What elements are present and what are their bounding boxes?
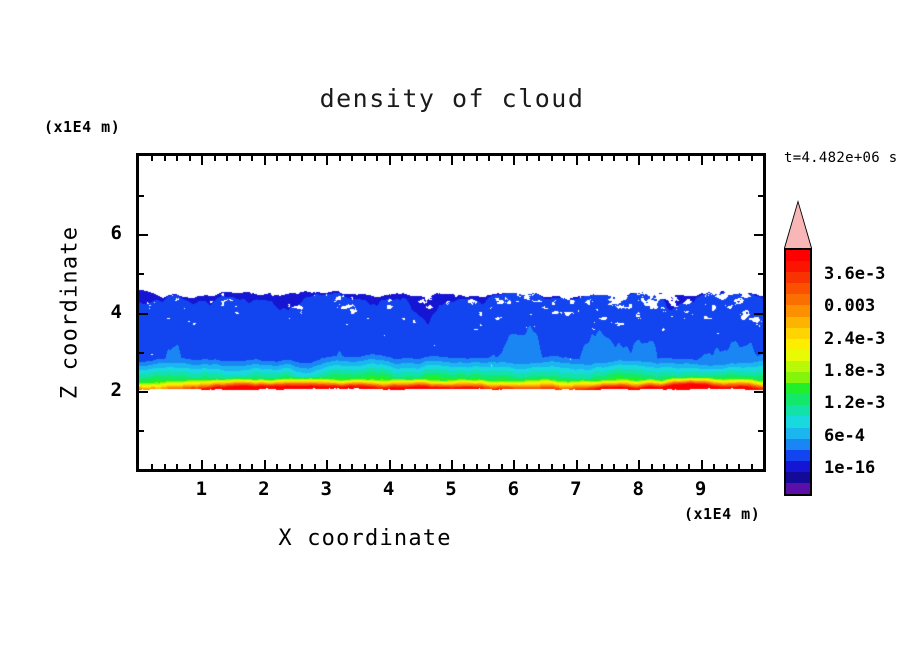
- x-minor-tick-top: [476, 156, 478, 161]
- y-axis-title: Z coordinate: [58, 203, 83, 423]
- x-minor-tick: [588, 464, 590, 469]
- colorbar-band: [786, 361, 810, 372]
- x-minor-tick-top: [301, 156, 303, 161]
- x-tick-label: 2: [249, 478, 279, 500]
- x-minor-tick-top: [751, 156, 753, 161]
- colorbar-band: [786, 450, 810, 461]
- colorbar-band: [786, 339, 810, 350]
- colorbar-tick-label: 3.6e-3: [824, 264, 885, 284]
- x-minor-tick: [414, 464, 416, 469]
- x-minor-tick-top: [463, 156, 465, 161]
- colorbar-band: [786, 405, 810, 416]
- x-minor-tick-top: [613, 156, 615, 161]
- colorbar-tick-label: 1.2e-3: [824, 393, 885, 413]
- x-minor-tick-top: [189, 156, 191, 161]
- x-minor-tick-top: [426, 156, 428, 161]
- x-tick-label: 4: [374, 478, 404, 500]
- x-minor-tick-top: [663, 156, 665, 161]
- x-minor-tick: [251, 464, 253, 469]
- x-minor-tick-top: [713, 156, 715, 161]
- x-minor-tick: [339, 464, 341, 469]
- x-minor-tick: [463, 464, 465, 469]
- y-minor-tick-right: [758, 430, 763, 432]
- y-axis-unit-label: (x1E4 m): [44, 118, 120, 136]
- colorbar-tick-label: 0.003: [824, 296, 875, 316]
- y-minor-tick-right: [758, 273, 763, 275]
- x-minor-tick: [651, 464, 653, 469]
- x-minor-tick-top: [526, 156, 528, 161]
- x-minor-tick: [613, 464, 615, 469]
- plot-area: [136, 153, 766, 472]
- y-major-tick: [139, 391, 148, 393]
- y-minor-tick: [139, 430, 144, 432]
- x-major-tick-top: [201, 156, 203, 165]
- x-minor-tick-top: [488, 156, 490, 161]
- colorbar-band: [786, 305, 810, 316]
- x-minor-tick-top: [401, 156, 403, 161]
- x-minor-tick-top: [314, 156, 316, 161]
- y-minor-tick-right: [758, 352, 763, 354]
- y-major-tick-right: [754, 391, 763, 393]
- x-minor-tick: [426, 464, 428, 469]
- x-minor-tick: [364, 464, 366, 469]
- x-minor-tick-top: [164, 156, 166, 161]
- x-minor-tick-top: [601, 156, 603, 161]
- x-major-tick: [264, 460, 266, 469]
- x-minor-tick: [713, 464, 715, 469]
- x-minor-tick: [476, 464, 478, 469]
- x-tick-label: 3: [311, 478, 341, 500]
- x-minor-tick-top: [726, 156, 728, 161]
- x-tick-label: 6: [498, 478, 528, 500]
- x-minor-tick: [563, 464, 565, 469]
- x-axis-unit-label: (x1E4 m): [684, 505, 760, 523]
- colorbar-band: [786, 272, 810, 283]
- x-major-tick: [326, 460, 328, 469]
- y-minor-tick: [139, 273, 144, 275]
- x-major-tick: [389, 460, 391, 469]
- colorbar-band: [786, 317, 810, 328]
- x-minor-tick: [688, 464, 690, 469]
- x-minor-tick: [501, 464, 503, 469]
- y-major-tick-right: [754, 234, 763, 236]
- x-minor-tick: [351, 464, 353, 469]
- x-minor-tick: [226, 464, 228, 469]
- y-major-tick: [139, 313, 148, 315]
- x-minor-tick-top: [176, 156, 178, 161]
- colorbar-band: [786, 372, 810, 383]
- x-minor-tick: [751, 464, 753, 469]
- colorbar-bands: [784, 248, 812, 496]
- time-annotation: t=4.482e+06 s: [784, 150, 897, 166]
- x-minor-tick: [601, 464, 603, 469]
- colorbar-band: [786, 283, 810, 294]
- x-minor-tick-top: [676, 156, 678, 161]
- x-minor-tick-top: [439, 156, 441, 161]
- x-major-tick-top: [264, 156, 266, 165]
- x-minor-tick-top: [626, 156, 628, 161]
- colorbar-band: [786, 416, 810, 427]
- x-minor-tick-top: [289, 156, 291, 161]
- x-minor-tick-top: [351, 156, 353, 161]
- colorbar-band: [786, 439, 810, 450]
- x-major-tick-top: [576, 156, 578, 165]
- colorbar-over-arrow: [785, 203, 811, 248]
- colorbar-band: [786, 461, 810, 472]
- x-minor-tick: [164, 464, 166, 469]
- x-minor-tick: [176, 464, 178, 469]
- x-minor-tick-top: [538, 156, 540, 161]
- x-minor-tick-top: [364, 156, 366, 161]
- x-minor-tick: [314, 464, 316, 469]
- colorbar-band: [786, 394, 810, 405]
- x-minor-tick-top: [563, 156, 565, 161]
- x-minor-tick-top: [251, 156, 253, 161]
- x-minor-tick-top: [214, 156, 216, 161]
- x-minor-tick-top: [501, 156, 503, 161]
- x-minor-tick-top: [276, 156, 278, 161]
- x-minor-tick-top: [239, 156, 241, 161]
- y-tick-label: 4: [92, 301, 122, 323]
- colorbar-band: [786, 294, 810, 305]
- y-minor-tick: [139, 352, 144, 354]
- colorbar-tick-label: 1.8e-3: [824, 361, 885, 381]
- x-major-tick-top: [389, 156, 391, 165]
- x-major-tick-top: [451, 156, 453, 165]
- colorbar-tick-label: 2.4e-3: [824, 329, 885, 349]
- colorbar-band: [786, 261, 810, 272]
- colorbar-band: [786, 250, 810, 261]
- x-tick-label: 1: [186, 478, 216, 500]
- x-minor-tick: [401, 464, 403, 469]
- x-major-tick: [701, 460, 703, 469]
- x-minor-tick: [726, 464, 728, 469]
- x-tick-label: 7: [561, 478, 591, 500]
- x-minor-tick-top: [551, 156, 553, 161]
- x-major-tick: [576, 460, 578, 469]
- y-minor-tick: [139, 195, 144, 197]
- x-minor-tick: [239, 464, 241, 469]
- x-tick-label: 9: [686, 478, 716, 500]
- colorbar-band: [786, 350, 810, 361]
- y-tick-label: 6: [92, 222, 122, 244]
- x-minor-tick-top: [588, 156, 590, 161]
- x-minor-tick: [151, 464, 153, 469]
- y-major-tick-right: [754, 313, 763, 315]
- x-minor-tick-top: [651, 156, 653, 161]
- x-minor-tick: [214, 464, 216, 469]
- page-title: density of cloud: [0, 84, 904, 113]
- x-minor-tick-top: [376, 156, 378, 161]
- y-minor-tick-right: [758, 195, 763, 197]
- x-minor-tick: [538, 464, 540, 469]
- x-minor-tick: [439, 464, 441, 469]
- colorbar-tick-label: 1e-16: [824, 458, 875, 478]
- colorbar-band: [786, 472, 810, 483]
- x-minor-tick-top: [226, 156, 228, 161]
- x-minor-tick: [276, 464, 278, 469]
- x-minor-tick: [663, 464, 665, 469]
- x-minor-tick: [551, 464, 553, 469]
- colorbar-band: [786, 328, 810, 339]
- x-minor-tick: [526, 464, 528, 469]
- x-minor-tick-top: [738, 156, 740, 161]
- x-tick-label: 8: [623, 478, 653, 500]
- x-minor-tick: [301, 464, 303, 469]
- x-minor-tick-top: [688, 156, 690, 161]
- colorbar-band: [786, 383, 810, 394]
- x-tick-label: 5: [436, 478, 466, 500]
- x-minor-tick-top: [151, 156, 153, 161]
- x-major-tick-top: [513, 156, 515, 165]
- y-tick-label: 2: [92, 379, 122, 401]
- x-minor-tick-top: [339, 156, 341, 161]
- x-major-tick-top: [701, 156, 703, 165]
- x-minor-tick: [189, 464, 191, 469]
- x-major-tick: [638, 460, 640, 469]
- colorbar-band: [786, 428, 810, 439]
- x-major-tick: [201, 460, 203, 469]
- colorbar-tick-label: 6e-4: [824, 426, 865, 446]
- x-minor-tick: [488, 464, 490, 469]
- x-minor-tick: [676, 464, 678, 469]
- x-major-tick-top: [326, 156, 328, 165]
- x-major-tick: [513, 460, 515, 469]
- x-major-tick: [451, 460, 453, 469]
- x-minor-tick: [738, 464, 740, 469]
- x-minor-tick-top: [414, 156, 416, 161]
- density-field-heatmap: [139, 156, 763, 469]
- x-axis-title: X coordinate: [0, 526, 730, 551]
- colorbar-band: [786, 483, 810, 494]
- x-minor-tick: [626, 464, 628, 469]
- x-minor-tick: [376, 464, 378, 469]
- x-major-tick-top: [638, 156, 640, 165]
- x-minor-tick: [289, 464, 291, 469]
- y-major-tick: [139, 234, 148, 236]
